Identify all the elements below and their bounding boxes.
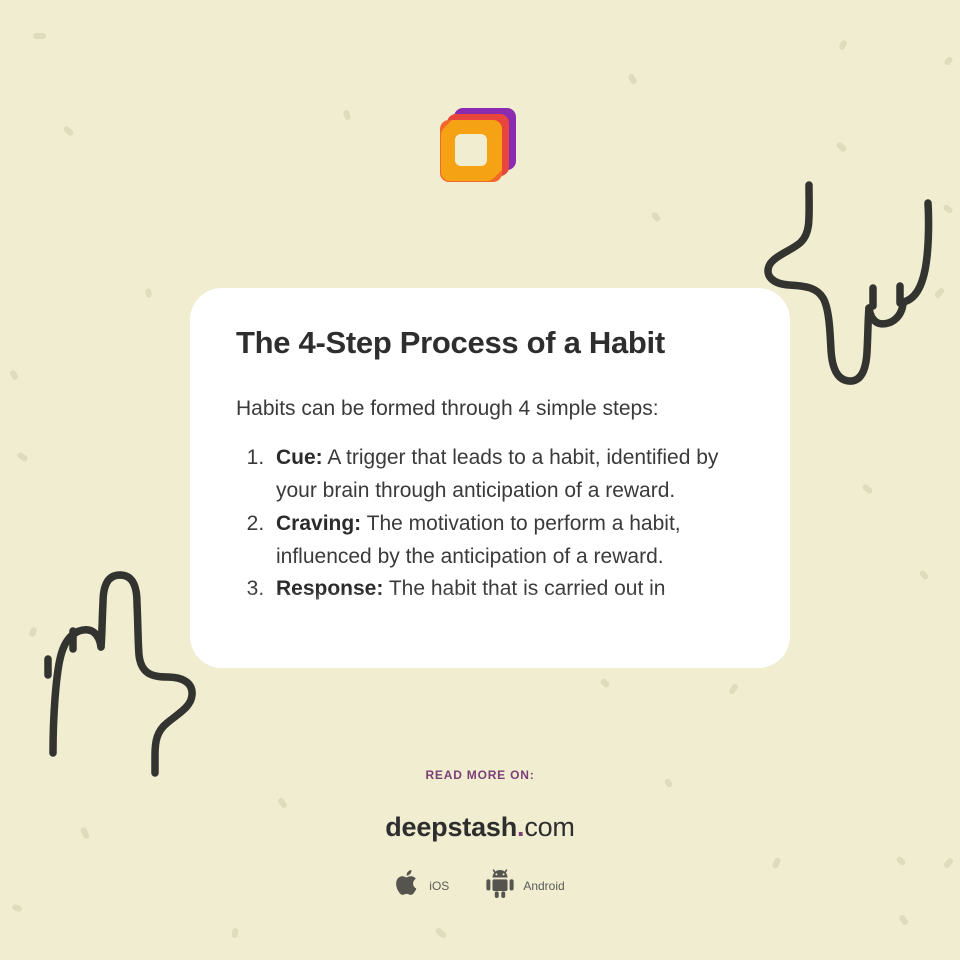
- apple-icon: [395, 868, 421, 903]
- confetti-dash: [918, 569, 929, 581]
- android-icon: [485, 867, 515, 904]
- footer: READ MORE ON: deepstash.com iOS: [0, 768, 960, 904]
- step-item: Cue: A trigger that leads to a habit, id…: [270, 442, 744, 508]
- confetti-dash: [9, 369, 19, 381]
- confetti-dash: [62, 125, 74, 137]
- card-body: The 4-Step Process of a Habit Habits can…: [190, 288, 790, 606]
- android-label: Android: [523, 879, 564, 893]
- step-item: Response: The habit that is carried out …: [270, 573, 744, 606]
- step-text: The habit that is carried out in: [383, 577, 665, 600]
- step-term: Response:: [276, 577, 383, 600]
- brand-wordmark[interactable]: deepstash.com: [0, 812, 960, 843]
- deepstash-logo: [428, 104, 520, 196]
- confetti-dash: [231, 928, 239, 939]
- steps-list: Cue: A trigger that leads to a habit, id…: [236, 442, 744, 606]
- confetti-dash: [33, 33, 46, 39]
- confetti-dash: [943, 56, 953, 67]
- brand-name: deepstash: [385, 812, 517, 842]
- confetti-dash: [627, 73, 638, 86]
- android-store-badge[interactable]: Android: [485, 867, 564, 904]
- logo-inner-cutout: [455, 134, 487, 166]
- poster-canvas: The 4-Step Process of a Habit Habits can…: [0, 0, 960, 960]
- confetti-dash: [650, 211, 661, 223]
- step-item: Craving: The motivation to perform a hab…: [270, 508, 744, 574]
- content-card: The 4-Step Process of a Habit Habits can…: [190, 288, 790, 668]
- page-title: The 4-Step Process of a Habit: [236, 324, 744, 361]
- confetti-dash: [342, 109, 351, 120]
- confetti-dash: [728, 683, 739, 695]
- read-more-label: READ MORE ON:: [0, 768, 960, 782]
- confetti-dash: [434, 927, 447, 939]
- confetti-dash: [898, 914, 909, 926]
- pointing-hand-illustration-left: [15, 555, 205, 785]
- step-term: Craving:: [276, 512, 361, 535]
- confetti-dash: [11, 903, 23, 913]
- ios-store-badge[interactable]: iOS: [395, 868, 449, 903]
- brand-tld: com: [524, 812, 574, 842]
- step-text: A trigger that leads to a habit, identif…: [276, 446, 718, 502]
- confetti-dash: [861, 483, 873, 495]
- store-badges-row: iOS: [0, 867, 960, 904]
- confetti-dash: [16, 451, 28, 462]
- ios-label: iOS: [429, 879, 449, 893]
- step-term: Cue:: [276, 446, 323, 469]
- confetti-dash: [835, 141, 847, 153]
- card-subtitle: Habits can be formed through 4 simple st…: [236, 395, 744, 422]
- confetti-dash: [145, 288, 152, 298]
- confetti-dash: [838, 39, 848, 51]
- confetti-dash: [599, 677, 610, 688]
